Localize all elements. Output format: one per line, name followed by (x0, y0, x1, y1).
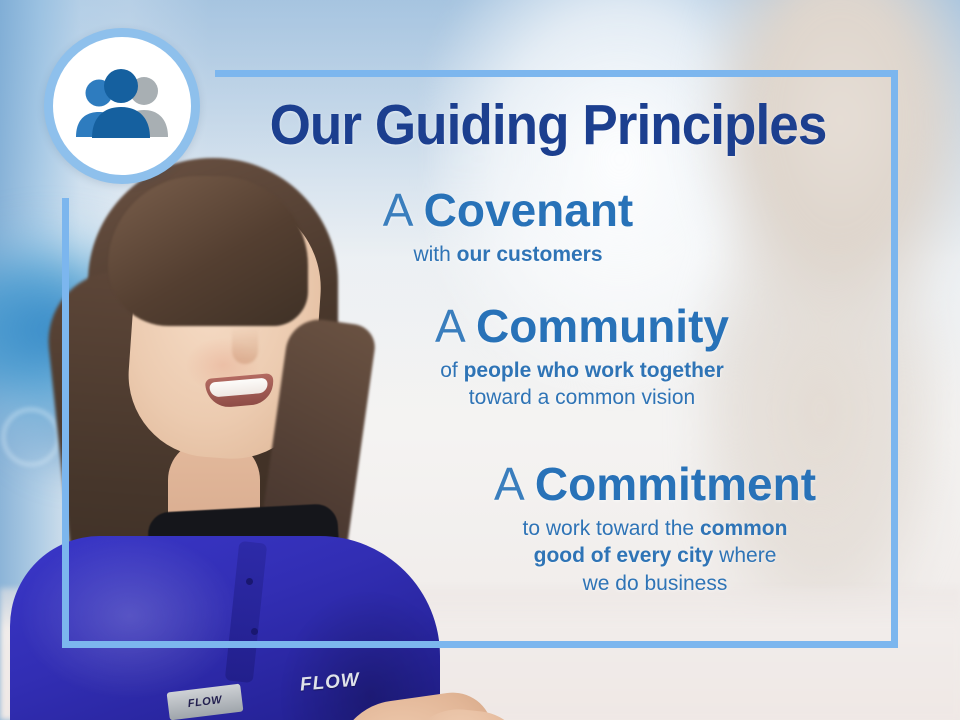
principle-commitment-subtitle: to work toward the common good of every … (420, 515, 890, 598)
principle-covenant-lead: A (383, 184, 424, 236)
people-group-badge (44, 28, 200, 184)
principle-covenant-keyword: Covenant (424, 184, 634, 236)
page-title: Our Guiding Principles (241, 96, 855, 154)
principle-community-sub-bold: people who work together (464, 359, 724, 382)
hair-front (108, 176, 308, 326)
principle-community-sub-line2: toward a common vision (352, 384, 812, 412)
principle-community-sub-plain: of (440, 359, 463, 382)
frame-right-border (891, 70, 898, 648)
principle-commitment-title: A Commitment (420, 460, 890, 509)
name-badge-label: FLOW (187, 694, 223, 710)
principle-community-title: A Community (352, 302, 812, 351)
nose (232, 328, 258, 364)
polo-button-bottom (251, 628, 258, 635)
people-group-icon (70, 69, 174, 143)
teeth (209, 378, 268, 398)
principle-covenant-subtitle: with our customers (288, 241, 728, 269)
principle-commitment: A Commitment to work toward the common g… (420, 460, 890, 598)
principle-covenant-sub-bold: our customers (457, 243, 603, 266)
principle-commitment-sub-bold: common (700, 517, 788, 540)
polo-button-top (246, 578, 253, 585)
frame-left-border (62, 198, 69, 648)
principle-commitment-sub-line2-plain: where (713, 544, 776, 567)
frame-top-border (215, 70, 898, 77)
principle-covenant-title: A Covenant (288, 186, 728, 235)
principle-community-lead: A (435, 300, 476, 352)
principle-community-subtitle: of people who work together toward a com… (352, 357, 812, 412)
principle-commitment-sub-line2: good of every city where (420, 542, 890, 570)
principle-commitment-lead: A (494, 458, 535, 510)
principle-community: A Community of people who work together … (352, 302, 812, 412)
principle-covenant-sub-plain: with (413, 243, 456, 266)
principle-covenant: A Covenant with our customers (288, 186, 728, 268)
principle-community-sub-line1: of people who work together (352, 357, 812, 385)
principle-commitment-sub-line3: we do business (420, 570, 890, 598)
principle-commitment-sub-line1: to work toward the common (420, 515, 890, 543)
principle-community-keyword: Community (476, 300, 729, 352)
principle-commitment-keyword: Commitment (535, 458, 816, 510)
principle-commitment-sub-line2-bold: good of every city (534, 544, 714, 567)
frame-bottom-border (62, 641, 898, 648)
principle-commitment-sub-plain: to work toward the (523, 517, 700, 540)
guiding-principles-graphic: FLOW FLOW Our Guiding Principle (0, 0, 960, 720)
